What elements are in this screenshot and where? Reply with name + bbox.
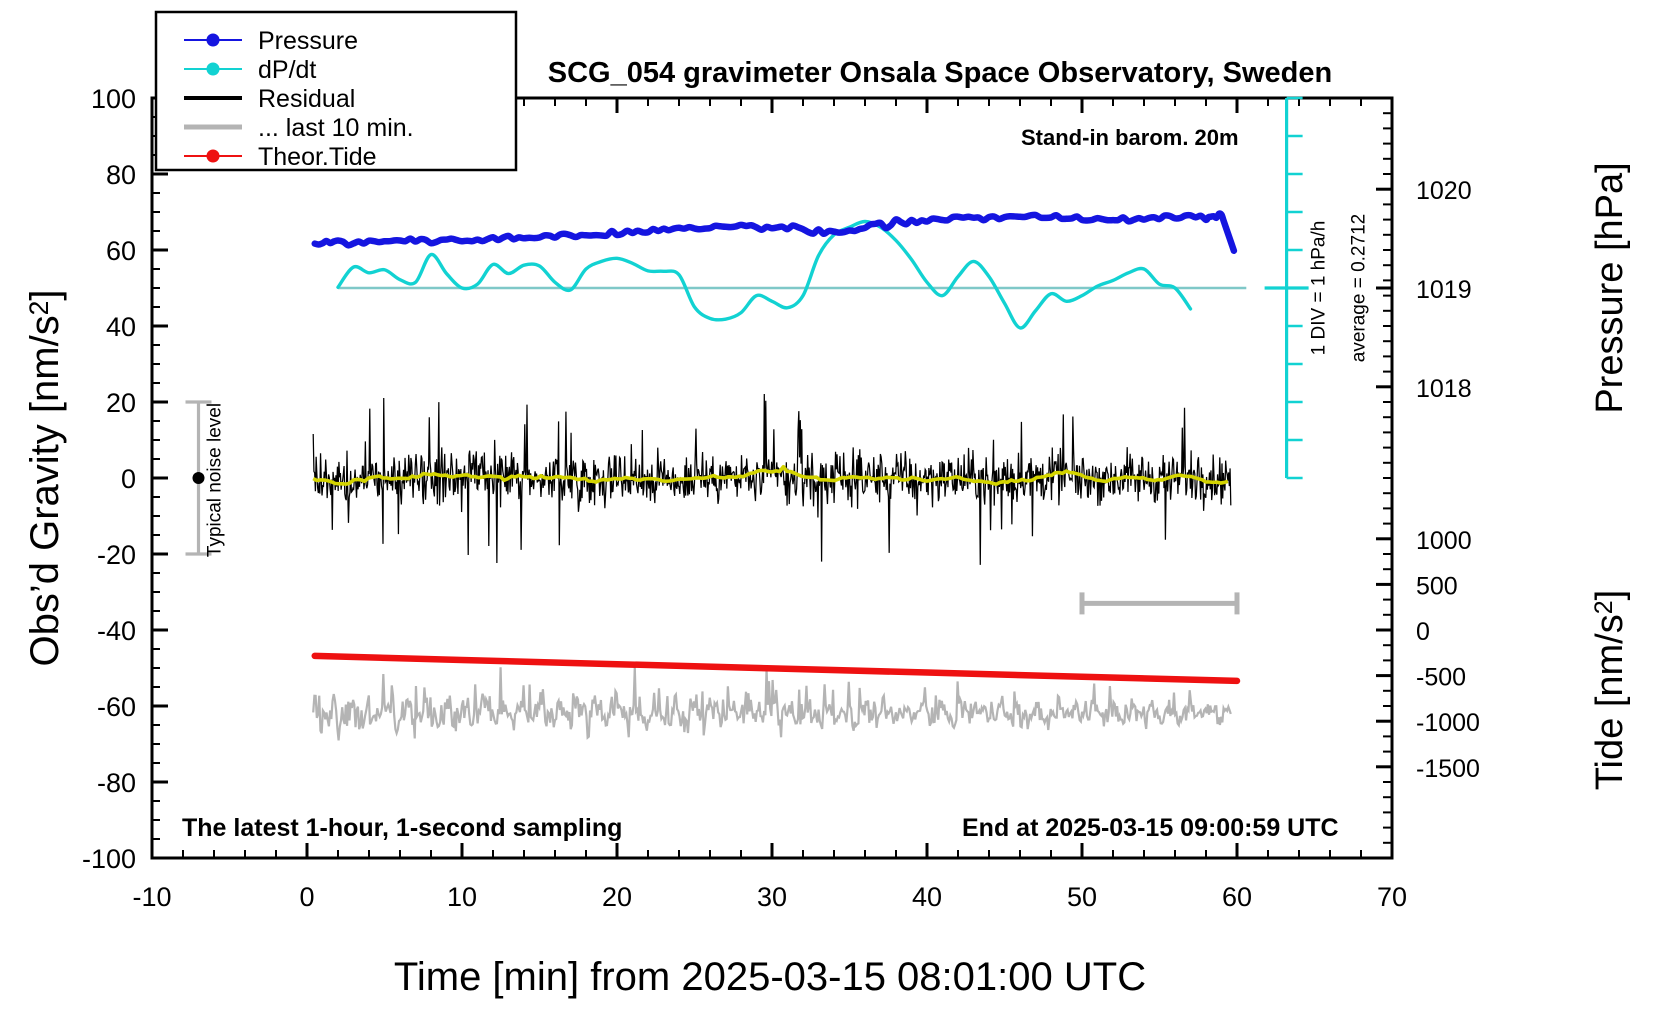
y-tick-label-tide: 500 (1416, 572, 1458, 600)
x-tick-label: 70 (1377, 882, 1407, 912)
x-tick-label: -10 (132, 882, 171, 912)
legend-label: Pressure (258, 27, 358, 55)
y-tick-label-tide: -500 (1416, 664, 1466, 692)
legend-label: Residual (258, 85, 355, 113)
chart-title: SCG_054 gravimeter Onsala Space Observat… (548, 57, 1332, 89)
y-tick-label-left: 40 (106, 312, 136, 342)
y-axis-title-pressure: Pressure [hPa] (1589, 162, 1631, 413)
y-tick-label-tide: 0 (1416, 618, 1430, 646)
legend-label: dP/dt (258, 56, 316, 84)
x-tick-label: 10 (447, 882, 477, 912)
typical-noise-level-label: Typical noise level (205, 403, 226, 557)
y-tick-label-tide: -1500 (1416, 755, 1480, 783)
x-tick-label: 60 (1222, 882, 1252, 912)
dpdt-average-label: average = 0.2712 (1349, 214, 1370, 362)
x-tick-label: 50 (1067, 882, 1097, 912)
x-tick-label: 30 (757, 882, 787, 912)
y-tick-label-left: -60 (97, 692, 136, 722)
x-tick-label: 40 (912, 882, 942, 912)
y-axis-title-left: Obs’d Gravity [nm/s2] (23, 289, 67, 666)
y-tick-label-left: 60 (106, 236, 136, 266)
y-tick-label-left: -20 (97, 540, 136, 570)
legend: PressuredP/dtResidual... last 10 min.The… (156, 12, 516, 171)
x-tick-label: 20 (602, 882, 632, 912)
y-tick-label-pressure: 1018 (1416, 375, 1472, 403)
y-tick-label-left: 20 (106, 388, 136, 418)
stand-in-barometer-label: Stand-in barom. 20m (1021, 125, 1239, 150)
y-tick-label-left: -100 (82, 844, 136, 874)
y-tick-label-pressure: 1019 (1416, 276, 1472, 304)
y-tick-label-tide: 1000 (1416, 527, 1472, 555)
legend-label: Theor.Tide (258, 143, 377, 171)
y-tick-label-tide: -1000 (1416, 709, 1480, 737)
x-tick-label: 0 (299, 882, 314, 912)
y-tick-label-left: 80 (106, 160, 136, 190)
y-tick-label-left: 100 (91, 84, 136, 114)
y-tick-label-left: 0 (121, 464, 136, 494)
footer-end-time-label: End at 2025-03-15 09:00:59 UTC (962, 814, 1339, 842)
x-axis-title: Time [min] from 2025-03-15 08:01:00 UTC (394, 955, 1146, 999)
y-axis-title-tide: Tide [nm/s2] (1589, 590, 1631, 791)
y-tick-label-pressure: 1020 (1416, 177, 1472, 205)
y-tick-label-left: -40 (97, 616, 136, 646)
y-tick-label-left: -80 (97, 768, 136, 798)
chart-canvas: -10010203040506070 100806040200-20-40-60… (0, 0, 1660, 1020)
footer-sampling-label: The latest 1-hour, 1-second sampling (182, 814, 622, 842)
div-scale-label: 1 DIV = 1 hPa/h (1309, 221, 1330, 356)
legend-label: ... last 10 min. (258, 114, 414, 142)
